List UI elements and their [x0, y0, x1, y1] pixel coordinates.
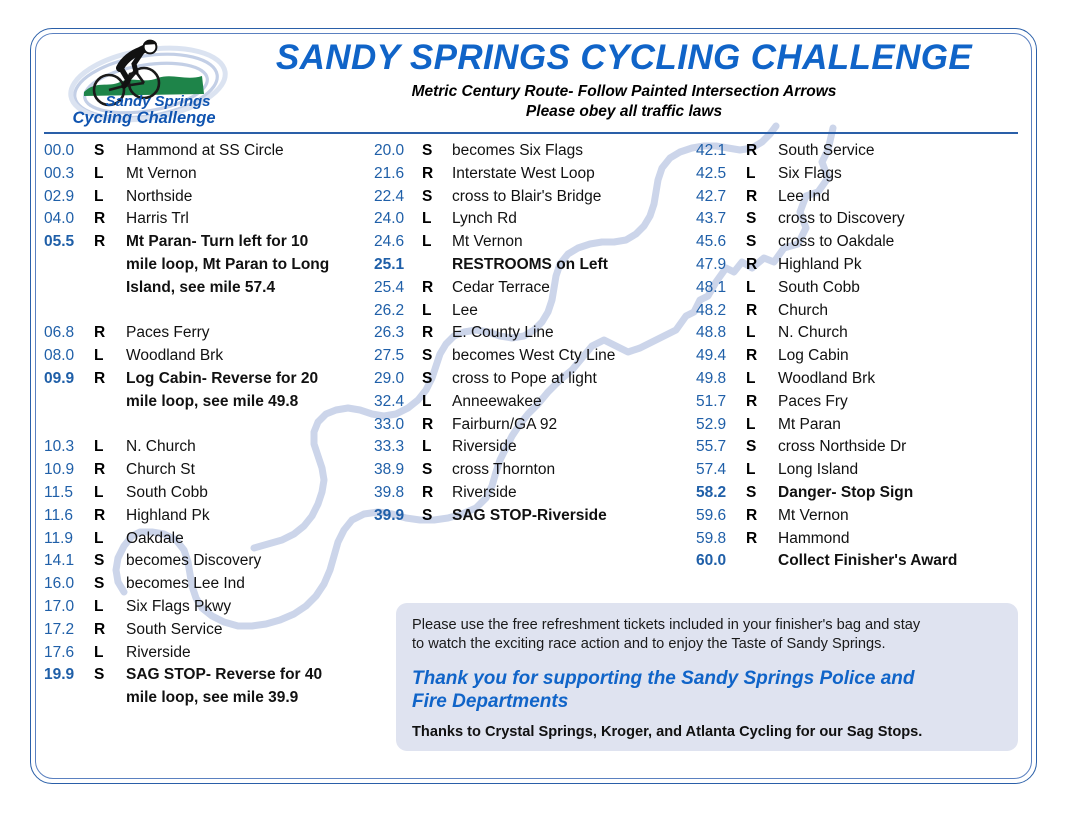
- cue-row: 38.9Scross Thornton: [374, 461, 696, 484]
- cue-row: 25.1RESTROOMS on Left: [374, 256, 696, 279]
- cue-turn: S: [422, 142, 452, 160]
- cue-description: cross Thornton: [452, 461, 555, 479]
- thanks-heading: Thank you for supporting the Sandy Sprin…: [412, 667, 1002, 713]
- cue-description: Mt Vernon: [778, 507, 849, 525]
- cue-row: 24.6LMt Vernon: [374, 233, 696, 256]
- cue-row: 17.6LRiverside: [44, 644, 374, 667]
- cue-description: Six Flags Pkwy: [126, 598, 231, 616]
- traffic-laws-notice: Please obey all traffic laws: [234, 103, 1014, 121]
- cue-mile: 17.0: [44, 598, 94, 616]
- logo-line-2: Cycling Challenge: [72, 109, 215, 127]
- cue-description: Long Island: [778, 461, 858, 479]
- cue-description: Hammond: [778, 530, 850, 548]
- cue-row: 02.9LNorthside: [44, 188, 374, 211]
- title-block: SANDY SPRINGS CYCLING CHALLENGE Metric C…: [234, 40, 1014, 121]
- cue-mile: 32.4: [374, 393, 422, 411]
- cue-row: 33.3LRiverside: [374, 438, 696, 461]
- cue-mile: 49.4: [696, 347, 746, 365]
- page-title: SANDY SPRINGS CYCLING CHALLENGE: [234, 40, 1014, 76]
- sheet-content: Sandy Springs Cycling Challenge SANDY SP…: [44, 36, 1024, 778]
- cue-row: 58.2SDanger- Stop Sign: [696, 484, 1024, 507]
- cue-mile: 05.5: [44, 233, 94, 251]
- cue-turn: R: [94, 370, 126, 388]
- cue-mile: 06.8: [44, 324, 94, 342]
- cue-mile: 10.9: [44, 461, 94, 479]
- cue-description: RESTROOMS on Left: [452, 256, 608, 274]
- cue-mile: 02.9: [44, 188, 94, 206]
- cue-turn: L: [94, 438, 126, 456]
- cue-description: Woodland Brk: [778, 370, 875, 388]
- cue-mile: 00.0: [44, 142, 94, 160]
- cue-mile: 43.7: [696, 210, 746, 228]
- cue-row: 00.0SHammond at SS Circle: [44, 142, 374, 165]
- finisher-note-box: Please use the free refreshment tickets …: [396, 603, 1018, 751]
- cue-mile: 29.0: [374, 370, 422, 388]
- cue-row: 59.8RHammond: [696, 530, 1024, 553]
- thanks-line-2: Fire Departments: [412, 690, 1002, 713]
- cue-turn: R: [746, 347, 778, 365]
- cue-row: 22.4Scross to Blair's Bridge: [374, 188, 696, 211]
- cue-description: Riverside: [452, 484, 517, 502]
- cue-turn: S: [94, 142, 126, 160]
- cue-description: becomes Discovery: [126, 552, 261, 570]
- cue-description: cross to Blair's Bridge: [452, 188, 601, 206]
- cue-description: Lee Ind: [778, 188, 830, 206]
- cue-turn: R: [94, 507, 126, 525]
- refreshment-note-line-1: Please use the free refreshment tickets …: [412, 616, 1002, 635]
- cue-turn: R: [422, 416, 452, 434]
- cue-description: Riverside: [452, 438, 517, 456]
- cue-turn: R: [94, 621, 126, 639]
- cue-description: becomes West Cty Line: [452, 347, 615, 365]
- cue-mile: 25.4: [374, 279, 422, 297]
- cue-mile: 19.9: [44, 666, 94, 684]
- cue-mile: 58.2: [696, 484, 746, 502]
- cue-mile: 26.3: [374, 324, 422, 342]
- cue-description: Fairburn/GA 92: [452, 416, 557, 434]
- cue-description: Collect Finisher's Award: [778, 552, 957, 570]
- cue-row: 55.7Scross Northside Dr: [696, 438, 1024, 461]
- cue-row: 60.0Collect Finisher's Award: [696, 552, 1024, 575]
- cue-row: 08.0LWoodland Brk: [44, 347, 374, 370]
- cue-description-continuation: mile loop, see mile 39.9: [44, 689, 374, 712]
- cue-mile: 57.4: [696, 461, 746, 479]
- cue-description: becomes Six Flags: [452, 142, 583, 160]
- cue-mile: 47.9: [696, 256, 746, 274]
- cue-mile: 51.7: [696, 393, 746, 411]
- cue-turn: L: [94, 530, 126, 548]
- cue-turn: L: [422, 393, 452, 411]
- cue-mile: 39.9: [374, 507, 422, 525]
- cue-row: 48.8LN. Church: [696, 324, 1024, 347]
- cue-row: 04.0RHarris Trl: [44, 210, 374, 233]
- cue-mile: 00.3: [44, 165, 94, 183]
- cue-mile: 33.0: [374, 416, 422, 434]
- cue-description: Oakdale: [126, 530, 184, 548]
- cue-turn: S: [422, 507, 452, 525]
- cue-description: Highland Pk: [126, 507, 210, 525]
- cue-description: Riverside: [126, 644, 191, 662]
- cue-turn: R: [94, 461, 126, 479]
- cue-mile: 16.0: [44, 575, 94, 593]
- cue-row: 39.8RRiverside: [374, 484, 696, 507]
- cue-mile: 27.5: [374, 347, 422, 365]
- cue-mile: 52.9: [696, 416, 746, 434]
- cue-turn: R: [746, 142, 778, 160]
- cue-description: Lynch Rd: [452, 210, 517, 228]
- cue-mile: 24.6: [374, 233, 422, 251]
- cue-turn: R: [422, 324, 452, 342]
- cue-row: 42.1RSouth Service: [696, 142, 1024, 165]
- cue-row: 42.5LSix Flags: [696, 165, 1024, 188]
- cue-row: 05.5RMt Paran- Turn left for 10: [44, 233, 374, 256]
- cue-description: Danger- Stop Sign: [778, 484, 913, 502]
- cue-turn: R: [94, 210, 126, 228]
- cue-row: 09.9RLog Cabin- Reverse for 20: [44, 370, 374, 393]
- cue-turn: L: [422, 438, 452, 456]
- cue-description: Highland Pk: [778, 256, 862, 274]
- cue-description: N. Church: [126, 438, 196, 456]
- cue-description: Lee: [452, 302, 478, 320]
- cue-mile: 11.5: [44, 484, 94, 502]
- cue-row: 59.6RMt Vernon: [696, 507, 1024, 530]
- cue-description: Paces Fry: [778, 393, 848, 411]
- cue-mile: 17.6: [44, 644, 94, 662]
- cue-row: 45.6Scross to Oakdale: [696, 233, 1024, 256]
- cue-column-1: 00.0SHammond at SS Circle00.3LMt Vernon0…: [44, 142, 374, 712]
- cue-turn: L: [746, 416, 778, 434]
- cue-mile: 09.9: [44, 370, 94, 388]
- cue-description: Cedar Terrace: [452, 279, 550, 297]
- cue-turn: S: [94, 552, 126, 570]
- cue-mile: 45.6: [696, 233, 746, 251]
- cue-row: 29.0Scross to Pope at light: [374, 370, 696, 393]
- cue-description: Woodland Brk: [126, 347, 223, 365]
- cue-sheet-page: Sandy Springs Cycling Challenge SANDY SP…: [0, 0, 1067, 814]
- cue-row: 27.5Sbecomes West Cty Line: [374, 347, 696, 370]
- cue-turn: S: [94, 666, 126, 684]
- sponsors-note: Thanks to Crystal Springs, Kroger, and A…: [412, 724, 1002, 740]
- cue-description-continuation: mile loop, Mt Paran to Long: [44, 256, 374, 279]
- cue-row: 17.0LSix Flags Pkwy: [44, 598, 374, 621]
- cue-row: 11.5LSouth Cobb: [44, 484, 374, 507]
- cue-description: Church St: [126, 461, 195, 479]
- cue-description: Mt Vernon: [126, 165, 197, 183]
- cue-description: E. County Line: [452, 324, 554, 342]
- cue-description: cross to Discovery: [778, 210, 905, 228]
- cue-turn: R: [94, 233, 126, 251]
- cue-turn: L: [746, 165, 778, 183]
- cue-mile: 21.6: [374, 165, 422, 183]
- cue-turn: L: [746, 461, 778, 479]
- cue-row: 49.8LWoodland Brk: [696, 370, 1024, 393]
- cue-turn: S: [422, 461, 452, 479]
- cue-turn: L: [422, 233, 452, 251]
- cue-mile: 17.2: [44, 621, 94, 639]
- cue-row: 43.7Scross to Discovery: [696, 210, 1024, 233]
- cue-description: Northside: [126, 188, 192, 206]
- cue-turn: S: [746, 484, 778, 502]
- cue-description: Interstate West Loop: [452, 165, 595, 183]
- cue-row: 16.0Sbecomes Lee Ind: [44, 575, 374, 598]
- cue-mile: 60.0: [696, 552, 746, 570]
- cue-row: 48.1LSouth Cobb: [696, 279, 1024, 302]
- sheet-header: Sandy Springs Cycling Challenge SANDY SP…: [44, 36, 1024, 128]
- cue-description: South Service: [778, 142, 875, 160]
- cue-mile: 04.0: [44, 210, 94, 228]
- cue-mile: 59.6: [696, 507, 746, 525]
- cue-description: Harris Trl: [126, 210, 189, 228]
- cue-mile: 42.5: [696, 165, 746, 183]
- cue-description: South Service: [126, 621, 223, 639]
- cue-row: 52.9LMt Paran: [696, 416, 1024, 439]
- cue-row: 20.0Sbecomes Six Flags: [374, 142, 696, 165]
- cue-mile: 22.4: [374, 188, 422, 206]
- cue-turn: S: [746, 438, 778, 456]
- thanks-line-1: Thank you for supporting the Sandy Sprin…: [412, 667, 1002, 690]
- cue-mile: 48.8: [696, 324, 746, 342]
- cue-description: cross Northside Dr: [778, 438, 906, 456]
- logo-line-1: Sandy Springs: [105, 93, 210, 110]
- cue-description: SAG STOP-Riverside: [452, 507, 607, 525]
- cue-turn: R: [746, 507, 778, 525]
- cue-row: 10.9RChurch St: [44, 461, 374, 484]
- cue-description: Log Cabin- Reverse for 20: [126, 370, 318, 388]
- cue-turn: R: [94, 324, 126, 342]
- cue-turn: R: [746, 393, 778, 411]
- cue-description: Log Cabin: [778, 347, 849, 365]
- cue-turn: R: [746, 188, 778, 206]
- cue-description-continuation: mile loop, see mile 49.8: [44, 393, 374, 416]
- event-logo: Sandy Springs Cycling Challenge: [62, 38, 230, 130]
- cue-row: 26.2LLee: [374, 302, 696, 325]
- cue-description: becomes Lee Ind: [126, 575, 245, 593]
- cue-turn: R: [422, 165, 452, 183]
- cue-row: 39.9SSAG STOP-Riverside: [374, 507, 696, 530]
- cue-turn: S: [746, 210, 778, 228]
- cue-row: 10.3LN. Church: [44, 438, 374, 461]
- cue-mile: 11.6: [44, 507, 94, 525]
- cue-turn: S: [746, 233, 778, 251]
- cue-row: 48.2RChurch: [696, 302, 1024, 325]
- cue-row: 42.7RLee Ind: [696, 188, 1024, 211]
- cue-row: 24.0LLynch Rd: [374, 210, 696, 233]
- cue-turn: L: [746, 324, 778, 342]
- cue-turn: R: [746, 530, 778, 548]
- cue-spacer: [44, 302, 374, 325]
- cue-row: 51.7RPaces Fry: [696, 393, 1024, 416]
- cue-row: 14.1Sbecomes Discovery: [44, 552, 374, 575]
- cue-row: 06.8RPaces Ferry: [44, 324, 374, 347]
- cue-turn: L: [94, 598, 126, 616]
- cue-turn: S: [94, 575, 126, 593]
- cue-turn: L: [746, 279, 778, 297]
- cue-turn: S: [422, 188, 452, 206]
- cue-mile: 20.0: [374, 142, 422, 160]
- cue-row: 11.6RHighland Pk: [44, 507, 374, 530]
- cue-mile: 42.7: [696, 188, 746, 206]
- route-subtitle: Metric Century Route- Follow Painted Int…: [234, 83, 1014, 101]
- cue-turn: R: [422, 484, 452, 502]
- cue-description: Mt Paran- Turn left for 10: [126, 233, 308, 251]
- header-divider: [44, 132, 1018, 134]
- cue-mile: 26.2: [374, 302, 422, 320]
- cue-description: Six Flags: [778, 165, 842, 183]
- cue-turn: L: [422, 302, 452, 320]
- cue-row: 25.4RCedar Terrace: [374, 279, 696, 302]
- cue-description-continuation: Island, see mile 57.4: [44, 279, 374, 302]
- cue-mile: 39.8: [374, 484, 422, 502]
- cue-turn: L: [94, 644, 126, 662]
- cue-turn: R: [746, 256, 778, 274]
- cue-turn: R: [746, 302, 778, 320]
- cue-description: Mt Vernon: [452, 233, 523, 251]
- cue-row: 33.0RFairburn/GA 92: [374, 416, 696, 439]
- cue-turn: S: [422, 370, 452, 388]
- cue-row: 49.4RLog Cabin: [696, 347, 1024, 370]
- cue-mile: 14.1: [44, 552, 94, 570]
- refreshment-note-line-2: to watch the exciting race action and to…: [412, 635, 1002, 654]
- cue-row: 47.9RHighland Pk: [696, 256, 1024, 279]
- cue-mile: 11.9: [44, 530, 94, 548]
- cue-turn: L: [94, 165, 126, 183]
- cue-description: N. Church: [778, 324, 848, 342]
- cue-turn: R: [422, 279, 452, 297]
- cue-mile: 48.1: [696, 279, 746, 297]
- cue-description: Church: [778, 302, 828, 320]
- cue-mile: 42.1: [696, 142, 746, 160]
- cue-mile: 08.0: [44, 347, 94, 365]
- cue-description: cross to Pope at light: [452, 370, 597, 388]
- cue-mile: 55.7: [696, 438, 746, 456]
- cue-mile: 59.8: [696, 530, 746, 548]
- cue-row: 11.9LOakdale: [44, 530, 374, 553]
- cue-description: Hammond at SS Circle: [126, 142, 284, 160]
- cue-row: 21.6RInterstate West Loop: [374, 165, 696, 188]
- cue-description: Paces Ferry: [126, 324, 210, 342]
- cue-spacer: [44, 416, 374, 439]
- cue-mile: 48.2: [696, 302, 746, 320]
- cue-row: 17.2RSouth Service: [44, 621, 374, 644]
- cue-row: 26.3RE. County Line: [374, 324, 696, 347]
- cue-mile: 25.1: [374, 256, 422, 274]
- cue-row: 57.4LLong Island: [696, 461, 1024, 484]
- cue-description: SAG STOP- Reverse for 40: [126, 666, 322, 684]
- cue-turn: L: [422, 210, 452, 228]
- cue-mile: 38.9: [374, 461, 422, 479]
- cue-row: 19.9SSAG STOP- Reverse for 40: [44, 666, 374, 689]
- cue-turn: L: [746, 370, 778, 388]
- cue-description: Mt Paran: [778, 416, 841, 434]
- cue-mile: 49.8: [696, 370, 746, 388]
- cue-mile: 10.3: [44, 438, 94, 456]
- cue-mile: 33.3: [374, 438, 422, 456]
- cue-row: 32.4LAnneewakee: [374, 393, 696, 416]
- cue-description: cross to Oakdale: [778, 233, 894, 251]
- cue-description: Anneewakee: [452, 393, 542, 411]
- cue-description: South Cobb: [126, 484, 208, 502]
- cue-turn: L: [94, 188, 126, 206]
- cue-turn: L: [94, 347, 126, 365]
- cue-row: 00.3LMt Vernon: [44, 165, 374, 188]
- cue-mile: 24.0: [374, 210, 422, 228]
- cue-description: South Cobb: [778, 279, 860, 297]
- cue-turn: S: [422, 347, 452, 365]
- cue-turn: L: [94, 484, 126, 502]
